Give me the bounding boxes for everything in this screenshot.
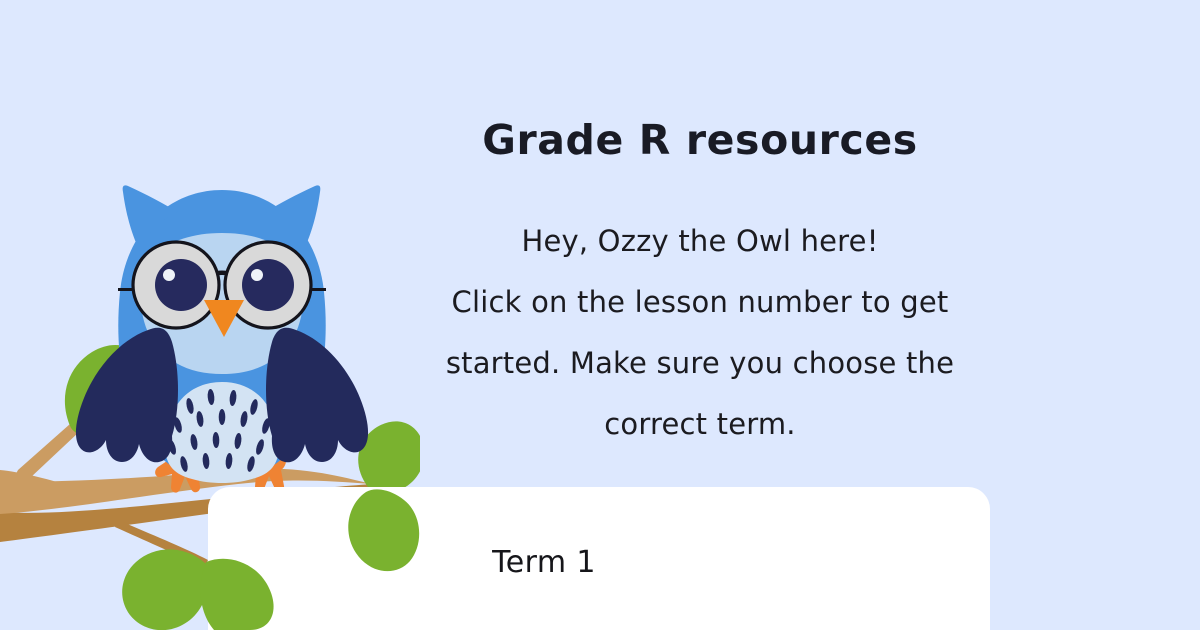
owl-pupil-left (155, 259, 207, 311)
intro-line-1: Hey, Ozzy the Owl here! (420, 211, 980, 272)
intro-line-3: started. Make sure you choose the (420, 333, 980, 394)
owl-eye-highlight-left (163, 269, 175, 281)
owl-eye-highlight-right (251, 269, 263, 281)
intro-line-2: Click on the lesson number to get (420, 272, 980, 333)
owl-wing-left (76, 328, 178, 463)
owl-pupil-right (242, 259, 294, 311)
intro-line-4: correct term. (420, 394, 980, 455)
term-card-label: Term 1 (208, 545, 880, 580)
owl-wing-right (266, 328, 368, 463)
page-root: Term 1 Grade R resources Hey, Ozzy the O… (0, 0, 1200, 630)
page-title: Grade R resources (420, 118, 980, 163)
term-card[interactable]: Term 1 (208, 487, 990, 630)
intro-paragraph: Hey, Ozzy the Owl here! Click on the les… (420, 211, 980, 455)
text-column: Grade R resources Hey, Ozzy the Owl here… (420, 118, 980, 455)
owl-figure (76, 185, 368, 492)
leaf-lower-left (122, 549, 209, 630)
